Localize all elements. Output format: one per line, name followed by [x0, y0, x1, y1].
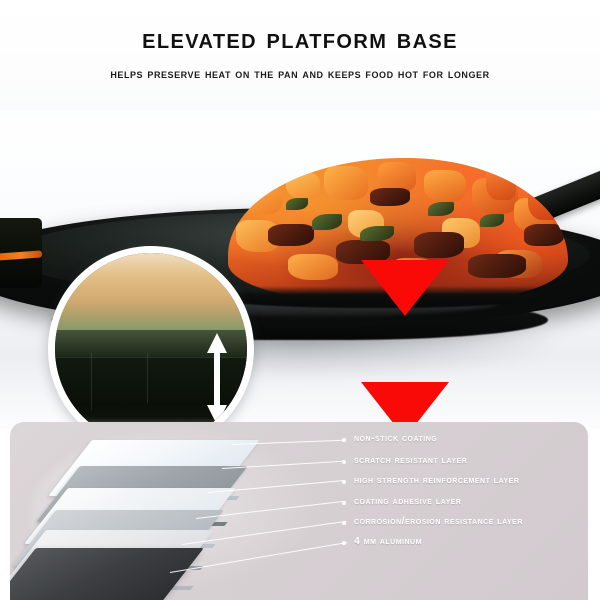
food-piece — [286, 172, 320, 198]
food-herb-leaf — [428, 202, 454, 216]
food-piece — [288, 254, 338, 280]
food-herb-leaf — [360, 226, 394, 241]
leader-dot — [342, 460, 346, 464]
leader-dot — [342, 501, 346, 505]
layer-label-aluminum: 4 mm Aluminum — [354, 535, 422, 547]
layer-label-corrosion-resistance: Corrosion/Erosion Resistance Layer — [354, 515, 523, 527]
food-meat-piece — [468, 254, 526, 278]
layer-label-reinforcement: High Strength Reinforcement Layer — [354, 474, 519, 486]
food-meat-piece — [414, 232, 464, 258]
food-pepper-strip — [528, 174, 564, 220]
magnifier-background-blur — [55, 253, 247, 341]
red-arrow-top — [361, 260, 449, 316]
food-meat-piece — [524, 224, 564, 246]
food-herb-leaf — [286, 198, 308, 210]
page-title: Elevated Platform Base — [0, 22, 600, 56]
food-piece — [324, 166, 368, 200]
food-piece — [424, 170, 466, 202]
product-infographic: Elevated Platform Base Helps preserve he… — [0, 0, 600, 600]
food-pepper-strip — [486, 160, 516, 200]
layer-label-adhesive: Coating Adhesive Layer — [354, 495, 461, 507]
hero-photo-stage — [0, 100, 600, 430]
leader-dot — [342, 521, 346, 525]
food-piece — [242, 184, 282, 214]
coating-layers-panel: Non-stick Coating Scratch Resistant Laye… — [10, 422, 588, 600]
leader-dot — [342, 541, 346, 545]
platform-height-magnifier — [48, 246, 254, 430]
header-section: Elevated Platform Base Helps preserve he… — [0, 0, 600, 110]
layer-label-scratch-resistant: Scratch Resistant Layer — [354, 454, 467, 466]
page-subtitle: Helps preserve heat on the pan and keeps… — [0, 66, 600, 81]
magnifier-seam — [91, 353, 92, 411]
food-meat-piece — [268, 224, 314, 246]
food-herb-leaf — [480, 214, 504, 227]
layer-label-non-stick: Non-stick Coating — [354, 432, 437, 444]
leader-dot — [342, 438, 346, 442]
leader-dot — [342, 480, 346, 484]
magnifier-seam — [147, 353, 148, 403]
height-measure-arrow — [205, 333, 229, 425]
food-meat-piece — [370, 188, 410, 206]
food-herb-leaf — [312, 214, 342, 230]
